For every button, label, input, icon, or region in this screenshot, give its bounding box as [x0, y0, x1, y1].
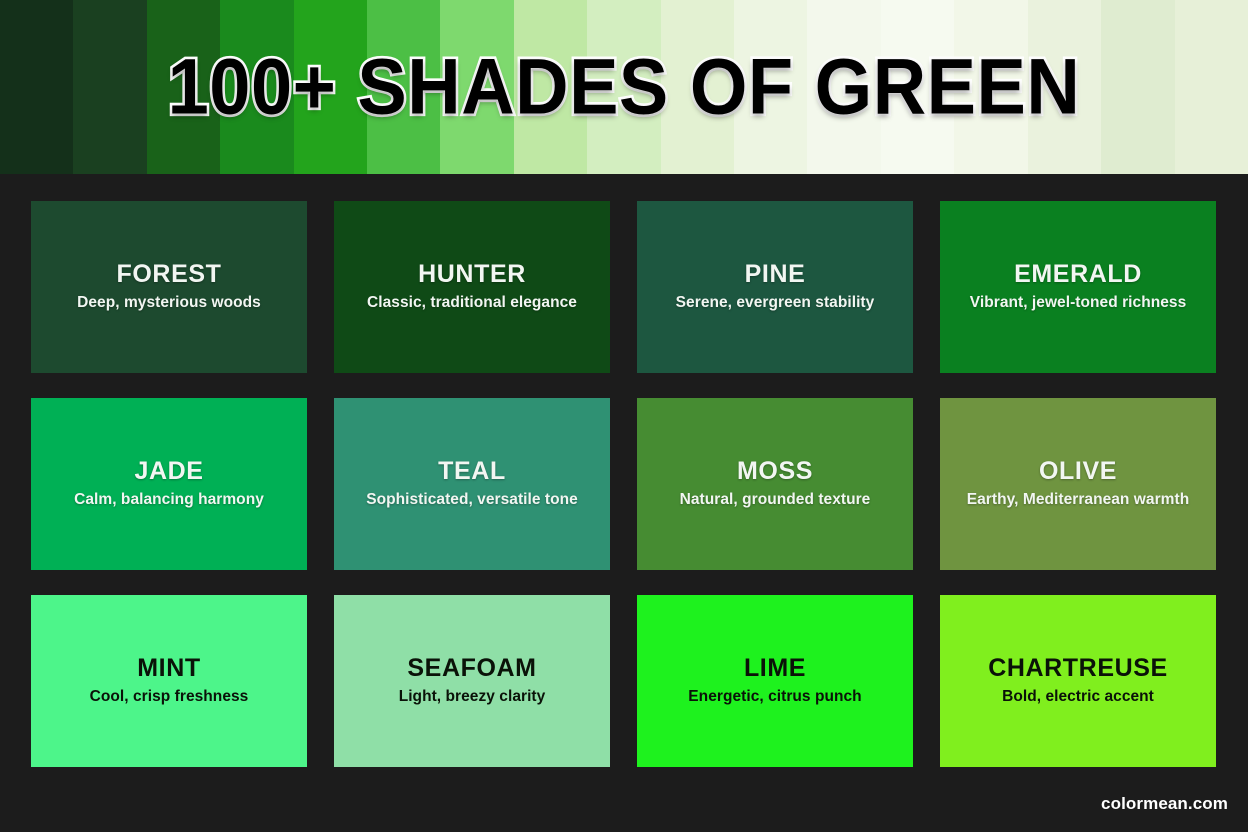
- header-stripe-11: [807, 0, 880, 174]
- swatch-card-lime[interactable]: LIMEEnergetic, citrus punch: [637, 595, 913, 767]
- swatch-description: Natural, grounded texture: [680, 491, 871, 510]
- swatch-card-hunter[interactable]: HUNTERClassic, traditional elegance: [334, 201, 610, 373]
- swatch-name: TEAL: [438, 458, 506, 486]
- swatch-card-moss[interactable]: MOSSNatural, grounded texture: [637, 398, 913, 570]
- swatch-card-jade[interactable]: JADECalm, balancing harmony: [31, 398, 307, 570]
- header-stripe-12: [881, 0, 954, 174]
- swatch-name: PINE: [745, 261, 806, 289]
- swatch-description: Bold, electric accent: [1002, 688, 1154, 707]
- swatch-description: Energetic, citrus punch: [688, 688, 861, 707]
- swatch-name: OLIVE: [1039, 458, 1117, 486]
- header-stripe-6: [440, 0, 513, 174]
- header-stripe-16: [1175, 0, 1248, 174]
- swatch-name: MOSS: [737, 458, 813, 486]
- swatch-name: FOREST: [117, 261, 222, 289]
- swatch-name: HUNTER: [418, 261, 526, 289]
- swatch-description: Deep, mysterious woods: [77, 294, 261, 313]
- swatch-description: Classic, traditional elegance: [367, 294, 577, 313]
- header-stripe-15: [1101, 0, 1174, 174]
- header-stripe-10: [734, 0, 807, 174]
- header-stripe-7: [514, 0, 587, 174]
- header-stripe-9: [661, 0, 734, 174]
- header-stripe-14: [1028, 0, 1101, 174]
- swatch-description: Cool, crisp freshness: [90, 688, 249, 707]
- header-stripe-5: [367, 0, 440, 174]
- color-swatch-grid: FORESTDeep, mysterious woodsHUNTERClassi…: [31, 201, 1217, 771]
- swatch-description: Earthy, Mediterranean warmth: [967, 491, 1189, 510]
- swatch-name: CHARTREUSE: [988, 655, 1168, 683]
- infographic-page: 100+ SHADES OF GREEN FORESTDeep, mysteri…: [0, 0, 1248, 832]
- swatch-card-chartreuse[interactable]: CHARTREUSEBold, electric accent: [940, 595, 1216, 767]
- swatch-name: LIME: [744, 655, 806, 683]
- header-stripe-4: [294, 0, 367, 174]
- swatch-card-pine[interactable]: PINESerene, evergreen stability: [637, 201, 913, 373]
- swatch-description: Serene, evergreen stability: [676, 294, 875, 313]
- header-stripe-8: [587, 0, 660, 174]
- swatch-card-emerald[interactable]: EMERALDVibrant, jewel-toned richness: [940, 201, 1216, 373]
- swatch-name: EMERALD: [1014, 261, 1142, 289]
- swatch-description: Vibrant, jewel-toned richness: [970, 294, 1187, 313]
- header-stripe-0: [0, 0, 73, 174]
- swatch-card-forest[interactable]: FORESTDeep, mysterious woods: [31, 201, 307, 373]
- swatch-description: Sophisticated, versatile tone: [366, 491, 578, 510]
- header-stripe-13: [954, 0, 1027, 174]
- header-stripe-3: [220, 0, 293, 174]
- header-stripe-1: [73, 0, 146, 174]
- swatch-card-seafoam[interactable]: SEAFOAMLight, breezy clarity: [334, 595, 610, 767]
- swatch-card-olive[interactable]: OLIVEEarthy, Mediterranean warmth: [940, 398, 1216, 570]
- swatch-name: MINT: [137, 655, 201, 683]
- header-stripe-2: [147, 0, 220, 174]
- header-gradient-band: [0, 0, 1248, 174]
- swatch-card-mint[interactable]: MINTCool, crisp freshness: [31, 595, 307, 767]
- swatch-description: Light, breezy clarity: [399, 688, 546, 707]
- swatch-name: SEAFOAM: [407, 655, 536, 683]
- swatch-description: Calm, balancing harmony: [74, 491, 264, 510]
- swatch-card-teal[interactable]: TEALSophisticated, versatile tone: [334, 398, 610, 570]
- site-watermark: colormean.com: [1101, 794, 1228, 814]
- swatch-name: JADE: [134, 458, 203, 486]
